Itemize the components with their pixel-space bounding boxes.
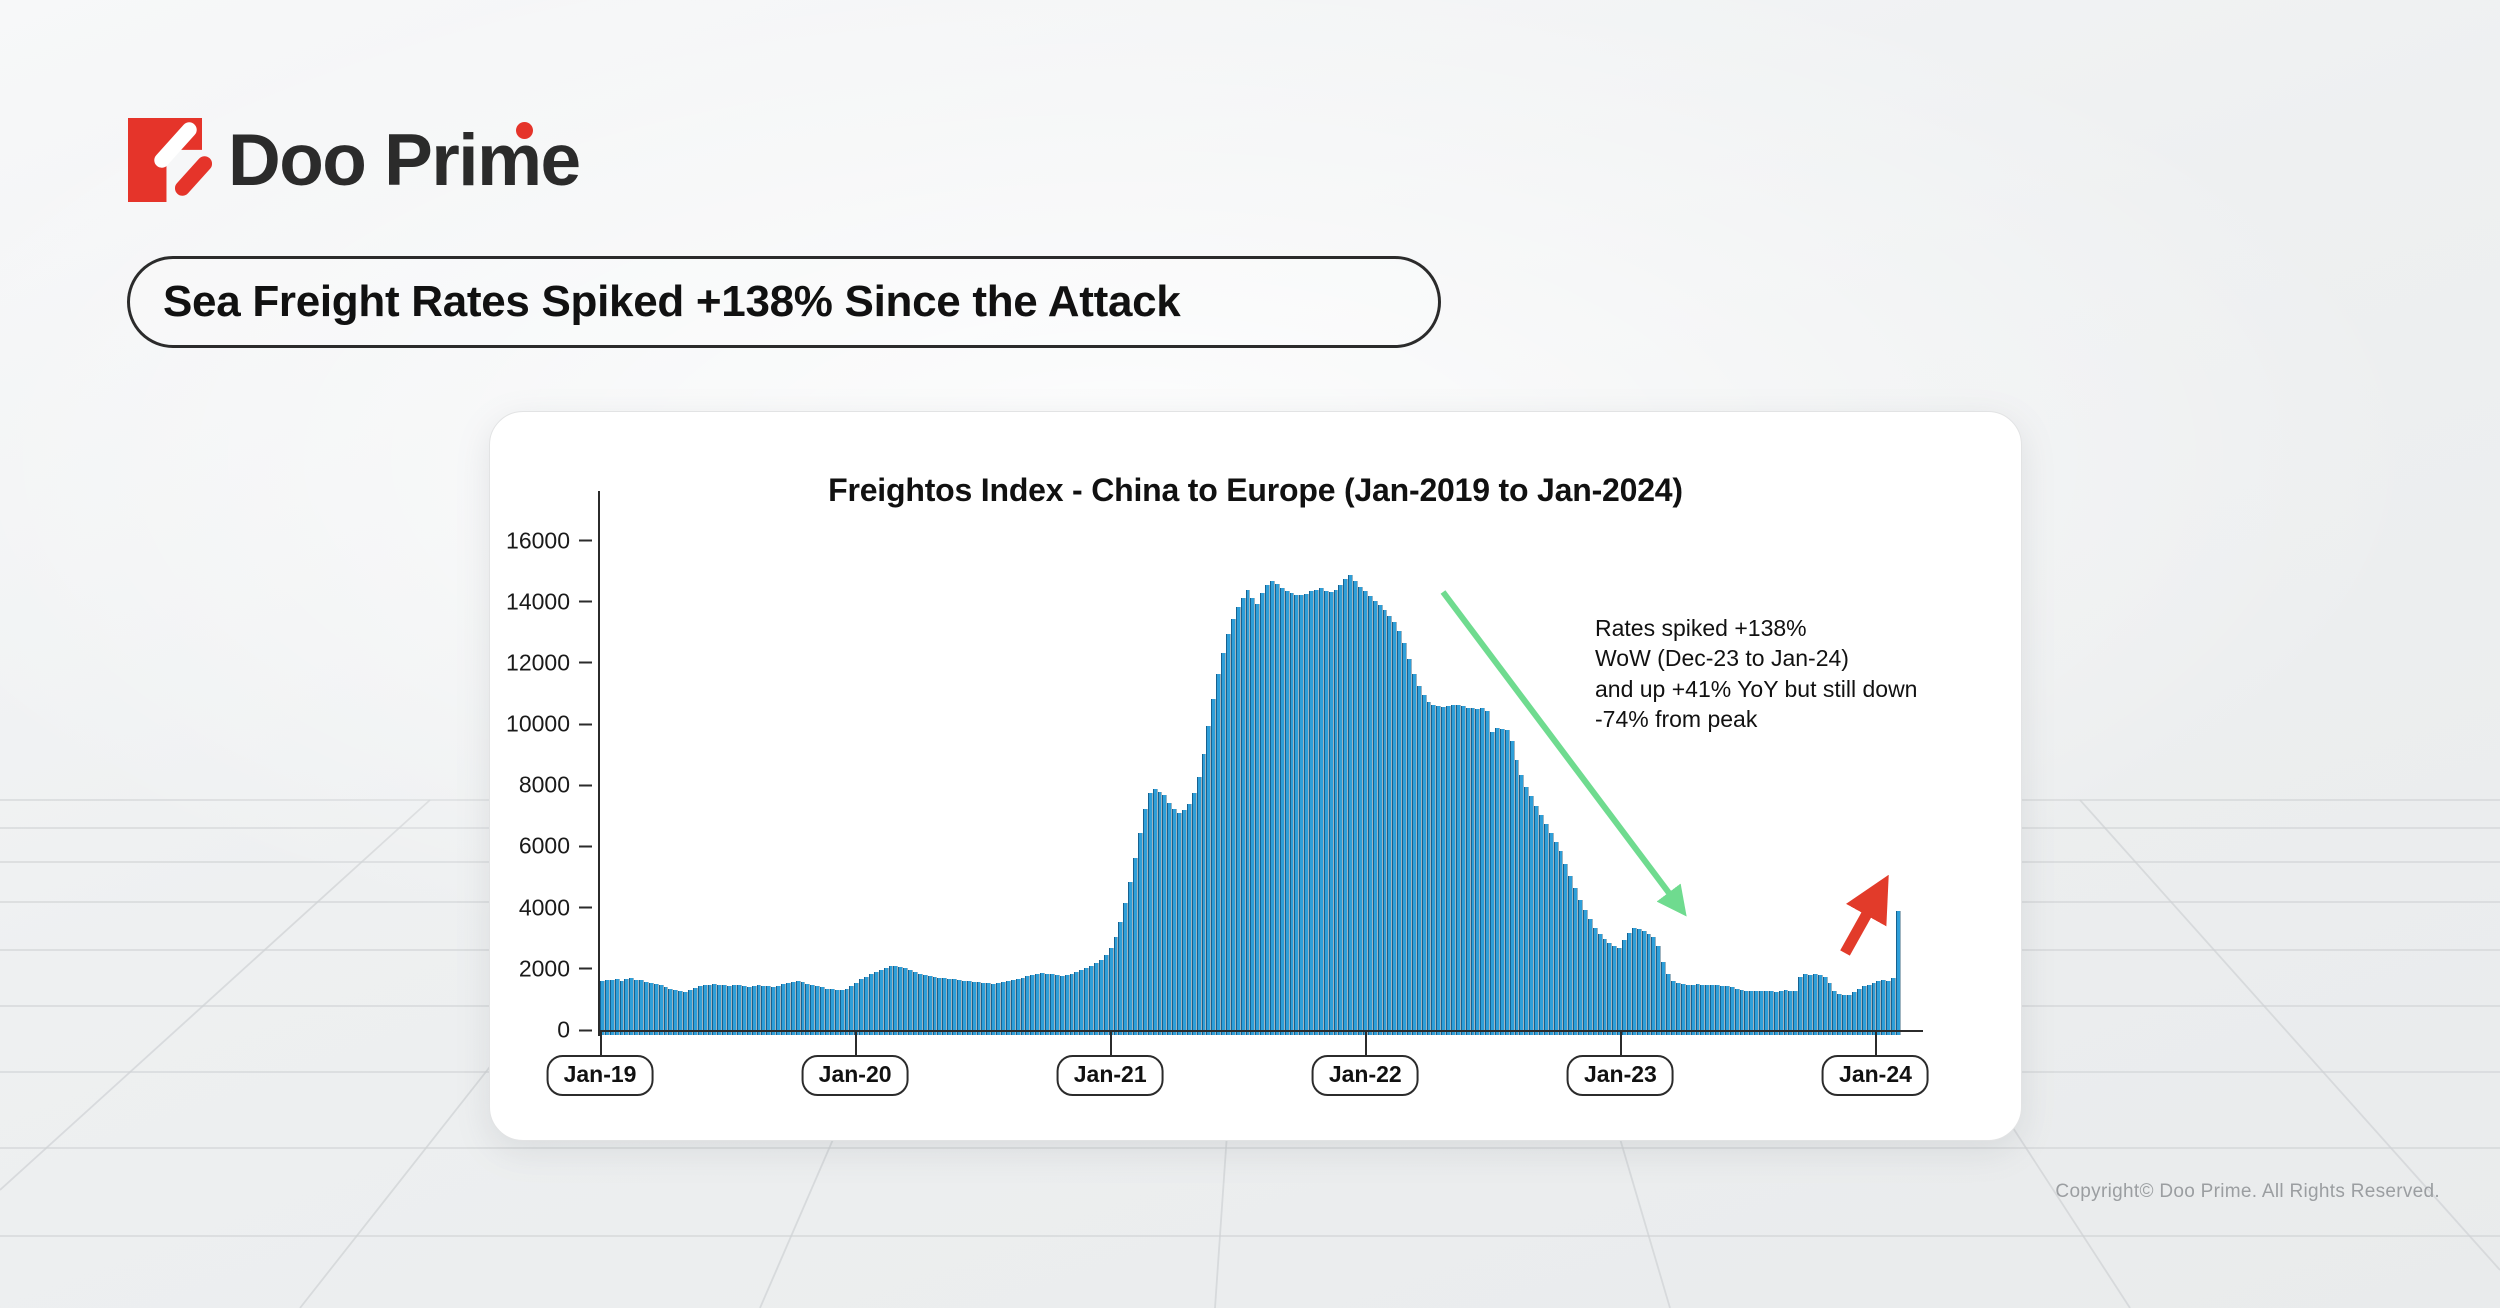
x-axis-tick-mark bbox=[1110, 1032, 1112, 1056]
y-axis-tick: 8000 bbox=[519, 772, 592, 799]
x-axis-tick-mark bbox=[1365, 1032, 1367, 1056]
chart-title: Freightos Index - China to Europe (Jan-2… bbox=[490, 472, 2021, 509]
y-axis-tick-mark bbox=[579, 845, 592, 847]
y-axis-tick-mark bbox=[579, 784, 592, 786]
y-axis-tick-mark bbox=[579, 540, 592, 542]
y-axis-tick-mark bbox=[579, 907, 592, 909]
x-axis-tick-mark bbox=[855, 1032, 857, 1056]
y-axis-tick-mark bbox=[579, 968, 592, 970]
x-axis-tick-label: Jan-20 bbox=[802, 1055, 909, 1096]
chart-annotation: Rates spiked +138% WoW (Dec-23 to Jan-24… bbox=[1595, 613, 1975, 734]
y-axis-tick: 12000 bbox=[506, 649, 592, 676]
headline-pill: Sea Freight Rates Spiked +138% Since the… bbox=[127, 256, 1441, 348]
y-axis-tick-label: 4000 bbox=[519, 894, 570, 921]
headline-text: Sea Freight Rates Spiked +138% Since the… bbox=[163, 277, 1180, 327]
y-axis-tick-label: 8000 bbox=[519, 772, 570, 799]
y-axis-tick: 16000 bbox=[506, 527, 592, 554]
y-axis-tick: 4000 bbox=[519, 894, 592, 921]
doo-prime-logo-icon bbox=[128, 118, 202, 202]
y-axis-tick: 14000 bbox=[506, 588, 592, 615]
annotation-line-1: Rates spiked +138% bbox=[1595, 613, 1975, 643]
y-axis-tick-label: 14000 bbox=[506, 588, 570, 615]
x-axis-tick-label: Jan-22 bbox=[1312, 1055, 1419, 1096]
y-axis-ticks: 0200040006000800010000120001400016000 bbox=[420, 0, 592, 1308]
x-axis-tick-mark bbox=[600, 1032, 602, 1056]
chart-plot-area bbox=[600, 510, 1900, 1035]
y-axis-tick-mark bbox=[579, 601, 592, 603]
x-axis-line bbox=[598, 1030, 1923, 1032]
y-axis-tick: 6000 bbox=[519, 833, 592, 860]
annotation-line-4: -74% from peak bbox=[1595, 704, 1975, 734]
x-axis-tick-label: Jan-21 bbox=[1057, 1055, 1164, 1096]
y-axis-tick-mark bbox=[579, 662, 592, 664]
y-axis-tick: 10000 bbox=[506, 711, 592, 738]
y-axis-tick: 2000 bbox=[519, 955, 592, 982]
bar-series bbox=[600, 514, 1900, 1035]
y-axis-tick-label: 6000 bbox=[519, 833, 570, 860]
x-axis-tick-mark bbox=[1875, 1032, 1877, 1056]
y-axis-tick-label: 12000 bbox=[506, 649, 570, 676]
x-axis-tick-label: Jan-23 bbox=[1567, 1055, 1674, 1096]
x-axis-tick-mark bbox=[1620, 1032, 1622, 1056]
annotation-line-3: and up +41% YoY but still down bbox=[1595, 674, 1975, 704]
y-axis-tick-label: 0 bbox=[557, 1017, 570, 1044]
copyright-footer: Copyright© Doo Prime. All Rights Reserve… bbox=[2055, 1181, 2440, 1203]
y-axis-tick: 0 bbox=[557, 1017, 592, 1044]
y-axis-tick-label: 10000 bbox=[506, 711, 570, 738]
x-axis-tick-label: Jan-19 bbox=[547, 1055, 654, 1096]
annotation-line-2: WoW (Dec-23 to Jan-24) bbox=[1595, 643, 1975, 673]
y-axis-tick-mark bbox=[579, 723, 592, 725]
y-axis-tick-mark bbox=[579, 1029, 592, 1031]
chart-bar bbox=[1896, 911, 1901, 1035]
y-axis-tick-label: 16000 bbox=[506, 527, 570, 554]
y-axis-tick-label: 2000 bbox=[519, 955, 570, 982]
x-axis-tick-label: Jan-24 bbox=[1822, 1055, 1929, 1096]
